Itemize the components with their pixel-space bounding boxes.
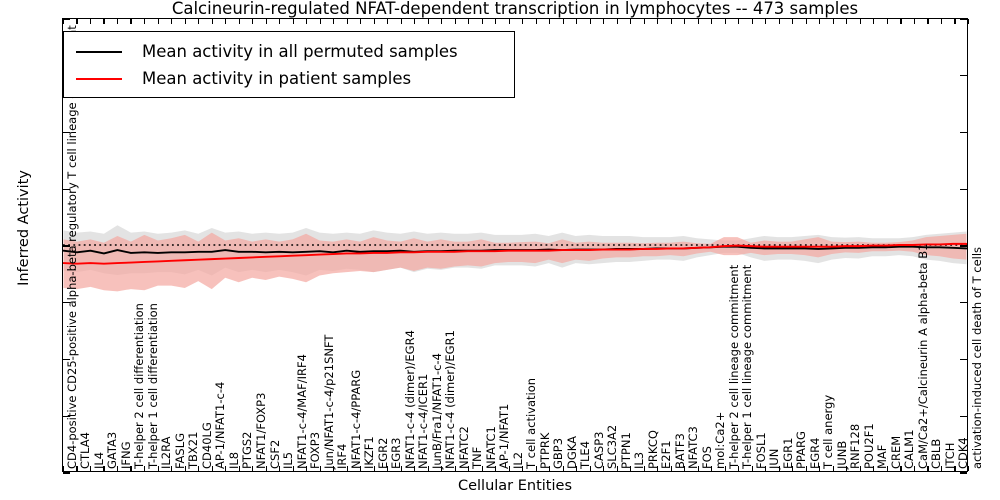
x-tick-top bbox=[63, 19, 64, 24]
x-tick-top bbox=[293, 19, 294, 24]
x-tick-top bbox=[333, 19, 334, 24]
x-tick-label: NFAT1-c-4 (dimer)/EGR4 bbox=[405, 330, 417, 469]
x-tick-label: CBLB bbox=[931, 439, 943, 469]
x-tick-top bbox=[671, 19, 672, 24]
y-axis-label: Inferred Activity bbox=[16, 118, 32, 338]
x-tick-top bbox=[509, 19, 510, 24]
x-tick-top bbox=[644, 19, 645, 24]
x-tick-top bbox=[103, 19, 104, 24]
x-tick-label: JunB/Fra1/NFAT1-c-4 bbox=[432, 353, 444, 469]
y-tick-right bbox=[960, 18, 967, 19]
x-tick-top bbox=[563, 19, 564, 24]
x-tick-top bbox=[941, 19, 942, 24]
x-tick-top bbox=[630, 19, 631, 24]
x-tick-label: NFAT1/FOXP3 bbox=[256, 393, 268, 469]
x-tick-label: BATF3 bbox=[675, 433, 687, 469]
x-tick-top bbox=[522, 19, 523, 24]
x-tick-label: EGR2 bbox=[378, 438, 390, 470]
x-tick-label: CDK4 bbox=[958, 437, 970, 469]
y-tick-right bbox=[960, 189, 967, 190]
x-tick-top bbox=[441, 19, 442, 24]
x-tick-label: T-helper 1 cell lineage commitment bbox=[742, 265, 754, 469]
x-tick-label: EGR4 bbox=[810, 438, 822, 470]
x-tick-top bbox=[130, 19, 131, 24]
x-tick-label: AP-1/NFAT1 bbox=[499, 404, 511, 469]
x-tick-label: FOXP3 bbox=[310, 432, 322, 469]
legend-swatch-permuted-line bbox=[76, 51, 122, 53]
y-tick-right bbox=[960, 472, 967, 473]
x-tick-top bbox=[198, 19, 199, 24]
x-tick-label: MAF bbox=[877, 445, 889, 469]
x-tick-label: CaM/Ca2+/Calcineurin A alpha-beta B1 bbox=[918, 244, 930, 469]
x-tick-label: T-helper 2 cell differentiation bbox=[134, 303, 146, 469]
y-tick-right bbox=[960, 132, 967, 133]
x-tick-top bbox=[833, 19, 834, 24]
x-tick-top bbox=[927, 19, 928, 24]
legend-swatch-patient-line bbox=[76, 78, 122, 80]
x-tick-top bbox=[185, 19, 186, 24]
x-tick-label: DGKA bbox=[567, 436, 579, 469]
x-tick-label: TNF bbox=[472, 447, 484, 469]
x-tick-label: IL2 bbox=[513, 452, 525, 469]
x-tick-top bbox=[374, 19, 375, 24]
x-tick-label: T-helper 2 cell lineage commitment bbox=[729, 265, 741, 469]
y-tick-right bbox=[960, 416, 967, 417]
x-tick-top bbox=[738, 19, 739, 24]
x-tick-top bbox=[414, 19, 415, 24]
x-tick-top bbox=[171, 19, 172, 24]
x-tick-top bbox=[846, 19, 847, 24]
x-tick-top bbox=[252, 19, 253, 24]
x-tick-label: CD40LG bbox=[202, 422, 214, 469]
x-tick-top bbox=[860, 19, 861, 24]
y-tick-right bbox=[960, 359, 967, 360]
x-tick-label: SLC3A2 bbox=[607, 425, 619, 469]
x-tick-label: CASP3 bbox=[594, 432, 606, 469]
x-tick-label: TLE4 bbox=[580, 441, 592, 469]
x-tick-top bbox=[158, 19, 159, 24]
x-tick-label: CREM bbox=[891, 436, 903, 469]
x-tick-label: IL2RA bbox=[161, 436, 173, 469]
x-tick-label: PPARG bbox=[796, 431, 808, 469]
legend-item-patient: Mean activity in patient samples bbox=[64, 65, 514, 92]
x-tick-label: T-helper 1 cell differentiation bbox=[148, 303, 160, 469]
x-tick-label: PRKCQ bbox=[648, 430, 660, 469]
x-tick-label: ITCH bbox=[945, 443, 957, 469]
x-tick-top bbox=[576, 19, 577, 24]
x-tick-label: Jun/NFAT1-c-4/p21SNFT bbox=[324, 335, 336, 469]
x-tick-top bbox=[387, 19, 388, 24]
x-tick-top bbox=[117, 19, 118, 24]
x-tick-top bbox=[549, 19, 550, 24]
x-tick-top bbox=[603, 19, 604, 24]
x-tick-top bbox=[590, 19, 591, 24]
x-tick-label: NFAT1-c-4/ICER1 bbox=[418, 374, 430, 469]
x-tick-label: RNF128 bbox=[850, 424, 862, 469]
x-tick-top bbox=[725, 19, 726, 24]
x-tick-top bbox=[752, 19, 753, 24]
x-tick-label: IRF4 bbox=[337, 444, 349, 469]
x-tick-top bbox=[536, 19, 537, 24]
x-tick-top bbox=[900, 19, 901, 24]
x-tick-top bbox=[90, 19, 91, 24]
x-tick-top bbox=[468, 19, 469, 24]
chart-title: Calcineurin-regulated NFAT-dependent tra… bbox=[62, 0, 968, 18]
x-tick-label: AP-1/NFAT1-c-4 bbox=[215, 382, 227, 469]
x-tick-label: EGR3 bbox=[391, 438, 403, 470]
x-tick-label: NFATC3 bbox=[688, 426, 700, 469]
x-tick-top bbox=[306, 19, 307, 24]
chart-root: Calcineurin-regulated NFAT-dependent tra… bbox=[0, 0, 1000, 500]
x-tick-top bbox=[698, 19, 699, 24]
x-tick-top bbox=[144, 19, 145, 24]
x-tick-top bbox=[279, 19, 280, 24]
y-tick bbox=[63, 472, 70, 473]
x-tick-top bbox=[968, 19, 969, 24]
y-tick-right bbox=[960, 302, 967, 303]
x-tick-top bbox=[225, 19, 226, 24]
x-tick-top bbox=[455, 19, 456, 24]
x-tick-top bbox=[873, 19, 874, 24]
x-tick-label: IL5 bbox=[283, 452, 295, 469]
x-tick-top bbox=[401, 19, 402, 24]
x-tick-top bbox=[914, 19, 915, 24]
x-tick-top bbox=[765, 19, 766, 24]
x-tick-label: mol:Ca2+ bbox=[715, 412, 727, 469]
x-tick-label: CALM1 bbox=[904, 429, 916, 469]
y-tick-right bbox=[960, 75, 967, 76]
x-tick-top bbox=[617, 19, 618, 24]
x-tick-label: GBP3 bbox=[553, 438, 565, 469]
x-tick-label: NFATC1 bbox=[486, 426, 498, 469]
x-tick-label: PTPN1 bbox=[621, 432, 633, 469]
x-tick-top bbox=[239, 19, 240, 24]
x-tick-label: T cell anergy bbox=[823, 395, 835, 469]
x-tick-top bbox=[76, 19, 77, 24]
x-tick-label: TBX21 bbox=[188, 432, 200, 469]
chart-legend: Mean activity in all permuted samples Me… bbox=[63, 31, 515, 98]
x-tick-label: activation-induced cell death of T cells bbox=[972, 247, 984, 469]
y-tick-right bbox=[960, 245, 967, 246]
x-tick-label: CTLA4 bbox=[80, 432, 92, 469]
x-tick-label: IKZF1 bbox=[364, 436, 376, 469]
x-tick-top bbox=[779, 19, 780, 24]
x-tick-label: NFAT1-c-4/PPARG bbox=[351, 370, 363, 469]
x-tick-top bbox=[806, 19, 807, 24]
x-tick-top bbox=[711, 19, 712, 24]
x-tick-top bbox=[954, 19, 955, 24]
x-tick-label: PTGS2 bbox=[242, 432, 254, 470]
x-tick-label: EGR1 bbox=[783, 438, 795, 470]
x-tick-label: CSF2 bbox=[270, 440, 282, 469]
y-tick bbox=[63, 18, 70, 19]
x-tick-label: T cell activation bbox=[526, 378, 538, 469]
x-axis-label: Cellular Entities bbox=[62, 478, 968, 494]
x-tick-top bbox=[792, 19, 793, 24]
legend-label-permuted: Mean activity in all permuted samples bbox=[142, 42, 458, 61]
x-tick-top bbox=[360, 19, 361, 24]
x-tick-label: JUNB bbox=[837, 441, 849, 469]
x-tick-top bbox=[684, 19, 685, 24]
legend-item-permuted: Mean activity in all permuted samples bbox=[64, 38, 514, 65]
x-tick-top bbox=[887, 19, 888, 24]
x-tick-top bbox=[495, 19, 496, 24]
x-tick-label: IL3 bbox=[634, 452, 646, 469]
x-tick-top bbox=[819, 19, 820, 24]
x-tick-top bbox=[347, 19, 348, 24]
x-tick-label: IFNG bbox=[121, 441, 133, 469]
x-tick-top bbox=[428, 19, 429, 24]
x-tick-label: IL4 bbox=[94, 452, 106, 469]
x-tick-label: PTPRK bbox=[540, 433, 552, 469]
x-tick-top bbox=[320, 19, 321, 24]
legend-label-patient: Mean activity in patient samples bbox=[142, 69, 411, 88]
x-tick-label: JUN bbox=[769, 449, 781, 469]
x-tick-top bbox=[212, 19, 213, 24]
x-tick-label: NFAT1-c-4 (dimer)/EGR1 bbox=[445, 330, 457, 469]
x-tick-label: NFATC2 bbox=[459, 426, 471, 469]
x-tick-label: FOS bbox=[702, 446, 714, 469]
x-tick-label: GATA3 bbox=[107, 432, 119, 469]
x-tick-top bbox=[266, 19, 267, 24]
x-tick-top bbox=[482, 19, 483, 24]
x-tick bbox=[63, 466, 64, 471]
x-tick-label: POU2F1 bbox=[864, 423, 876, 469]
x-tick-label: E2F1 bbox=[661, 440, 673, 469]
x-tick-label: FASLG bbox=[175, 433, 187, 469]
x-tick-label: NFAT1-c-4/MAF/IRF4 bbox=[297, 354, 309, 469]
x-tick-label: FOSL1 bbox=[756, 432, 768, 469]
x-tick-top bbox=[657, 19, 658, 24]
x-tick-label: IL8 bbox=[229, 452, 241, 469]
